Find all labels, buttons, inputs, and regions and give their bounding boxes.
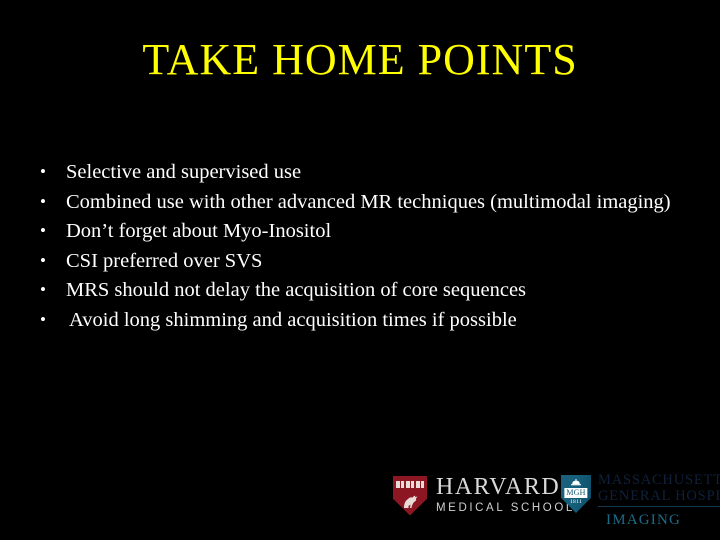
mgh-shield-icon: MGH 1811: [561, 475, 591, 513]
bullet-marker-icon: •: [40, 158, 66, 187]
presentation-slide: TAKE HOME POINTS • Selective and supervi…: [0, 0, 720, 540]
mgh-founding-year: 1811: [570, 499, 582, 506]
bullet-list: • Selective and supervised use • Combine…: [40, 158, 680, 335]
list-item: • Don’t forget about Myo-Inositol: [40, 217, 680, 246]
harvard-name: HARVARD: [436, 475, 575, 500]
mgh-abbreviation: MGH: [564, 488, 587, 498]
mass-general-hospital-logo: MGH 1811 MASSACHUSETTS GENERAL HOSPITAL …: [561, 472, 720, 530]
harvard-medical-school-logo: HARVARD MEDICAL SCHOOL: [393, 475, 575, 516]
list-item-label: CSI preferred over SVS: [66, 247, 680, 276]
list-item: • Selective and supervised use: [40, 158, 680, 187]
harvard-books-icon: [396, 481, 424, 488]
list-item: • Avoid long shimming and acquisition ti…: [40, 306, 680, 335]
mgh-division-label: IMAGING: [606, 510, 720, 530]
page-title: TAKE HOME POINTS: [0, 34, 720, 86]
mgh-dome-icon: [570, 479, 582, 486]
list-item-label: Selective and supervised use: [66, 158, 680, 187]
mgh-name-line-1: MASSACHUSETTS: [598, 472, 720, 488]
footer-logos: HARVARD MEDICAL SCHOOL MGH 1811 MASSACHU…: [393, 470, 713, 532]
harvard-shield-icon: [393, 476, 427, 516]
mgh-divider: [598, 506, 720, 507]
mgh-name-line-2: GENERAL HOSPITAL: [598, 488, 720, 504]
list-item: • Combined use with other advanced MR te…: [40, 188, 680, 217]
list-item-label: Combined use with other advanced MR tech…: [66, 188, 680, 217]
list-item-label: MRS should not delay the acquisition of …: [66, 276, 680, 305]
harvard-lion-icon: [400, 491, 420, 511]
bullet-marker-icon: •: [40, 247, 66, 276]
list-item-label: Don’t forget about Myo-Inositol: [66, 217, 680, 246]
harvard-wordmark: HARVARD MEDICAL SCHOOL: [436, 475, 575, 516]
list-item-label: Avoid long shimming and acquisition time…: [66, 306, 680, 335]
harvard-subtitle: MEDICAL SCHOOL: [436, 500, 575, 516]
bullet-marker-icon: •: [40, 217, 66, 246]
list-item: • MRS should not delay the acquisition o…: [40, 276, 680, 305]
mgh-wordmark: MASSACHUSETTS GENERAL HOSPITAL IMAGING: [598, 472, 720, 530]
bullet-marker-icon: •: [40, 276, 66, 305]
bullet-marker-icon: •: [40, 306, 66, 335]
bullet-marker-icon: •: [40, 188, 66, 217]
list-item: • CSI preferred over SVS: [40, 247, 680, 276]
